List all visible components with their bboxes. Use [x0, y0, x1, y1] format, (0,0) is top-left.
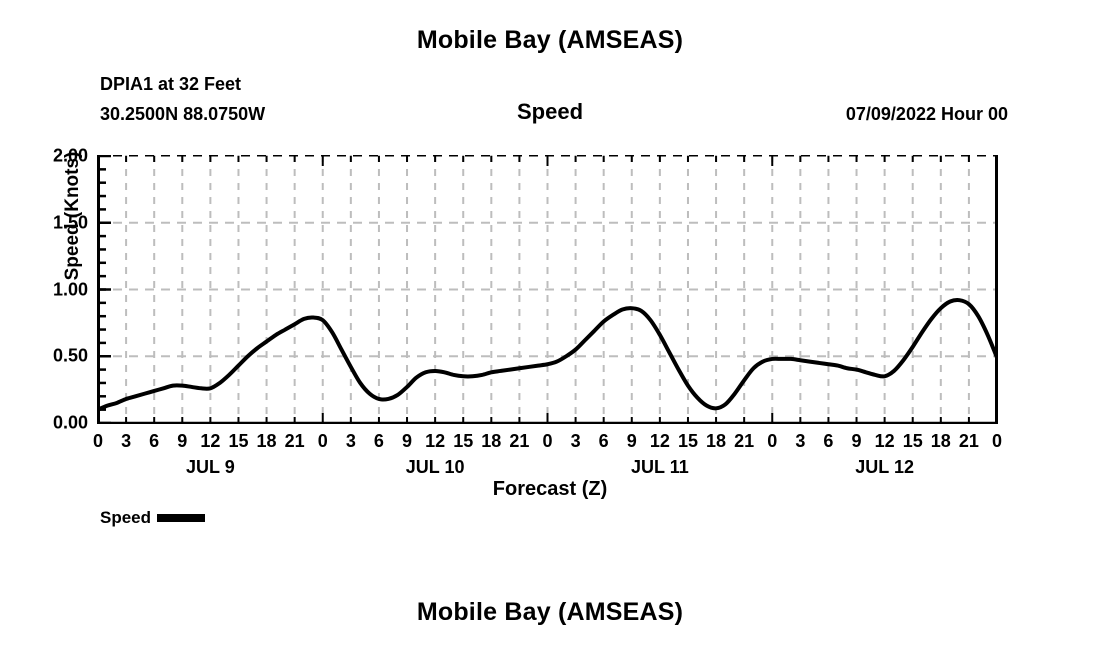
x-tick-label: 21: [285, 431, 305, 452]
x-tick-label: 12: [875, 431, 895, 452]
x-tick-label: 0: [542, 431, 552, 452]
day-label: JUL 11: [631, 457, 689, 478]
x-tick-label: 15: [903, 431, 923, 452]
x-tick-label: 21: [509, 431, 529, 452]
x-tick-label: 21: [959, 431, 979, 452]
top-axis-ticks: [98, 156, 997, 166]
x-tick-label: 18: [481, 431, 501, 452]
day-label: JUL 10: [406, 457, 465, 478]
x-tick-label: 15: [678, 431, 698, 452]
x-tick-label: 15: [228, 431, 248, 452]
speed-line-chart: [97, 155, 998, 424]
page-title-top: Mobile Bay (AMSEAS): [0, 26, 1100, 55]
x-tick-label: 3: [571, 431, 581, 452]
x-tick-label: 6: [374, 431, 384, 452]
y-tick-label: 1.00: [53, 279, 88, 300]
plot-area: Speed (Knots) 0.000.501.001.502.00 03691…: [97, 155, 998, 424]
x-tick-label: 12: [425, 431, 445, 452]
x-tick-label: 3: [346, 431, 356, 452]
page-title-bottom: Mobile Bay (AMSEAS): [0, 598, 1100, 627]
day-label: JUL 9: [186, 457, 235, 478]
x-axis-title: Forecast (Z): [0, 478, 1100, 501]
x-tick-label: 0: [318, 431, 328, 452]
x-tick-label: 21: [734, 431, 754, 452]
x-tick-label: 3: [121, 431, 131, 452]
legend-label-speed: Speed: [100, 508, 151, 528]
x-tick-label: 9: [627, 431, 637, 452]
x-tick-label: 12: [200, 431, 220, 452]
y-tick-label: 1.50: [53, 212, 88, 233]
legend-swatch-speed: [157, 514, 205, 522]
station-depth-label: DPIA1 at 32 Feet: [100, 74, 241, 95]
x-tick-label: 18: [931, 431, 951, 452]
x-tick-label: 6: [823, 431, 833, 452]
x-tick-label: 6: [149, 431, 159, 452]
chart-page: Mobile Bay (AMSEAS) DPIA1 at 32 Feet 30.…: [0, 0, 1100, 650]
x-tick-label: 9: [177, 431, 187, 452]
x-tick-label: 18: [257, 431, 277, 452]
x-tick-label: 3: [795, 431, 805, 452]
x-tick-label: 15: [453, 431, 473, 452]
y-tick-label: 0.50: [53, 346, 88, 367]
x-tick-label: 9: [852, 431, 862, 452]
x-tick-label: 0: [992, 431, 1002, 452]
y-tick-label: 0.00: [53, 413, 88, 434]
x-tick-label: 12: [650, 431, 670, 452]
model-run-label: 07/09/2022 Hour 00: [846, 104, 1008, 125]
x-tick-label: 0: [767, 431, 777, 452]
x-tick-label: 0: [93, 431, 103, 452]
x-tick-label: 6: [599, 431, 609, 452]
y-tick-label: 2.00: [53, 146, 88, 167]
x-tick-label: 18: [706, 431, 726, 452]
chart-legend: Speed: [100, 508, 205, 528]
x-tick-label: 9: [402, 431, 412, 452]
day-label: JUL 12: [855, 457, 914, 478]
